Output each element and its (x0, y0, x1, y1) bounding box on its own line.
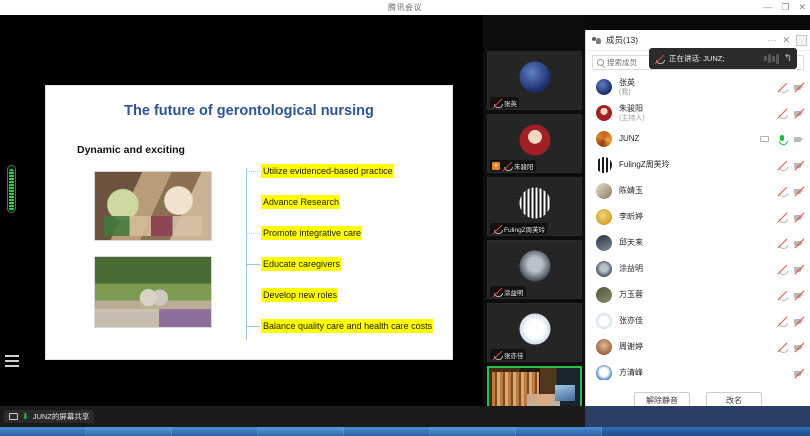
video-tile-label: 涂益明 (490, 286, 526, 297)
participant-name: 方清峰 (619, 368, 643, 378)
avatar (596, 339, 612, 355)
screen-share-status[interactable]: ⬇ JUNZ的屏幕共享 (4, 410, 94, 423)
video-tile[interactable]: ★ 朱骏阳 (487, 114, 582, 173)
mic-muted-icon (492, 349, 502, 360)
taskbar-item[interactable] (86, 427, 172, 436)
avatar (596, 157, 612, 173)
mic-muted-icon[interactable] (777, 108, 787, 119)
os-taskbar[interactable] (0, 427, 810, 436)
panel-title: 成员(13) (606, 34, 638, 46)
participant-name: FulingZ周芙玲 (619, 160, 670, 170)
taskbar-item[interactable] (516, 427, 602, 436)
panel-bottom-strip (585, 406, 810, 427)
avatar (519, 251, 550, 282)
taskbar-item[interactable] (258, 427, 344, 436)
taskbar-spacer (602, 427, 810, 436)
list-item: Advance Research (246, 195, 446, 226)
avatar (519, 314, 550, 345)
list-item[interactable]: 李昕婷 (586, 204, 810, 230)
list-item[interactable]: JUNZ (586, 126, 810, 152)
list-icon[interactable] (5, 355, 19, 367)
video-tile[interactable]: 张英 (487, 51, 582, 110)
video-tile[interactable]: FulingZ周芙玲 (487, 177, 582, 236)
participant-name: 李昕婷 (619, 212, 643, 222)
list-item: Develop new roles (246, 288, 446, 319)
screen-share-icon (760, 134, 770, 145)
list-item[interactable]: 陈婧玉 (586, 178, 810, 204)
participants-panel: 成员(13) ··· ✕ 正在讲话: JUNZ; ↰ (585, 30, 810, 421)
participant-name: 万玉蓉 (619, 290, 643, 300)
mic-on-icon[interactable] (777, 134, 787, 145)
participant-status-icons (777, 204, 804, 230)
mic-muted-icon[interactable] (777, 290, 787, 301)
slide-subtitle: Dynamic and exciting (77, 144, 185, 156)
speaking-text: 正在讲话: JUNZ; (669, 53, 759, 64)
list-item[interactable]: FulingZ周芙玲 (586, 152, 810, 178)
mic-muted-icon[interactable] (777, 264, 787, 275)
camera-off-icon[interactable] (794, 82, 804, 93)
list-item[interactable]: 方清峰 (586, 360, 810, 380)
mic-muted-icon (492, 223, 502, 234)
camera-off-icon[interactable] (794, 264, 804, 275)
maximize-icon[interactable]: ❐ (781, 3, 789, 12)
participant-status-icons (777, 308, 804, 334)
camera-icon[interactable] (794, 134, 804, 145)
mic-muted-icon[interactable] (777, 212, 787, 223)
slide-bullets: Utilize evidenced-based practice Advance… (246, 164, 446, 350)
participant-name: 涂益明 (619, 264, 643, 274)
close-icon[interactable]: ✕ (798, 3, 806, 12)
taskbar-item[interactable] (172, 427, 258, 436)
avatar (519, 62, 550, 93)
list-item[interactable]: 涂益明 (586, 256, 810, 282)
video-tile-label: FulingZ周芙玲 (490, 223, 547, 234)
participant-role: (我) (619, 88, 635, 97)
video-tile[interactable]: 涂益明 (487, 240, 582, 299)
participant-name: 陈婧玉 (619, 186, 643, 196)
mic-muted-icon[interactable] (777, 316, 787, 327)
participant-name: 朱骏阳 (619, 104, 645, 114)
participant-status-icons (777, 74, 804, 100)
camera-off-icon[interactable] (794, 160, 804, 171)
presentation-slide: The future of gerontological nursing Dyn… (45, 85, 453, 360)
list-item: Educate caregivers (246, 257, 446, 288)
list-item: Utilize evidenced-based practice (246, 164, 446, 195)
participant-status-icons (777, 334, 804, 360)
camera-off-icon[interactable] (794, 368, 804, 379)
host-badge-icon: ★ (492, 162, 500, 170)
meeting-body: The future of gerontological nursing Dyn… (0, 15, 810, 406)
video-tile-label: 张亦佳 (490, 349, 526, 360)
participant-status-icons (794, 360, 804, 380)
mic-muted-icon[interactable] (777, 160, 787, 171)
avatar (596, 209, 612, 225)
participant-status-icons (777, 230, 804, 256)
minimize-icon[interactable]: — (763, 3, 772, 12)
slide-photo-nurse-patient (94, 171, 212, 241)
list-item[interactable]: 邱天来 (586, 230, 810, 256)
participant-name: 张亦佳 (619, 316, 643, 326)
taskbar-item[interactable] (0, 427, 86, 436)
more-options-icon[interactable]: ··· (767, 36, 776, 45)
avatar (596, 79, 612, 95)
participant-name: 张英 (619, 78, 635, 88)
panel-close-icon[interactable]: ✕ (782, 36, 790, 45)
avatar (596, 105, 612, 121)
video-filmstrip[interactable]: 张英 ★ 朱骏阳 FulingZ周芙玲 (483, 15, 585, 406)
list-item[interactable]: 朱骏阳 (主持人) (586, 100, 810, 126)
avatar (596, 235, 612, 251)
people-icon (592, 36, 602, 45)
avatar (596, 131, 612, 147)
mic-muted-icon (502, 160, 512, 171)
participant-name: 周谢婷 (619, 342, 643, 352)
participant-status-icons (777, 152, 804, 178)
popout-panel-button[interactable] (796, 35, 807, 46)
list-item: Promote integrative care (246, 226, 446, 257)
download-arrow-icon: ⬇ (22, 413, 29, 421)
shared-screen-stage: The future of gerontological nursing Dyn… (25, 15, 483, 406)
meeting-window: 腾讯会议 — ❐ ✕ The future of gerontological … (0, 0, 810, 436)
video-tile-label: ★ 朱骏阳 (490, 160, 536, 171)
audio-wave-icon (764, 54, 779, 64)
speaking-indicator: 正在讲话: JUNZ; ↰ (649, 48, 797, 69)
list-item: Balance quality care and health care cos… (246, 319, 446, 350)
title-bar: 腾讯会议 — ❐ ✕ (0, 0, 810, 15)
list-item[interactable]: 万玉蓉 (586, 282, 810, 308)
camera-off-icon[interactable] (794, 212, 804, 223)
camera-off-icon[interactable] (794, 186, 804, 197)
participant-name: JUNZ (619, 134, 639, 144)
camera-off-icon[interactable] (794, 108, 804, 119)
window-controls: — ❐ ✕ (763, 0, 806, 15)
list-item[interactable]: 张亦佳 (586, 308, 810, 334)
mic-muted-icon (654, 53, 664, 64)
back-arrow-icon[interactable]: ↰ (784, 53, 792, 64)
video-tile[interactable]: 张亦佳 (487, 303, 582, 362)
camera-off-icon[interactable] (794, 238, 804, 249)
mic-level-indicator (7, 165, 16, 213)
avatar (519, 125, 550, 156)
avatar (596, 313, 612, 329)
participant-status-icons (777, 282, 804, 308)
mic-muted-icon (492, 286, 502, 297)
search-icon (597, 59, 604, 66)
mic-muted-icon[interactable] (777, 238, 787, 249)
mic-muted-icon[interactable] (777, 342, 787, 353)
avatar (596, 287, 612, 303)
participant-role: (主持人) (619, 114, 645, 123)
video-tile-label: 张英 (490, 97, 519, 108)
participant-status-icons (777, 256, 804, 282)
camera-off-icon[interactable] (794, 316, 804, 327)
participant-list[interactable]: 张英 (我) 朱骏阳 (主持人) (586, 74, 810, 380)
participant-status-icons (777, 178, 804, 204)
avatar (596, 183, 612, 199)
taskbar-item[interactable] (344, 427, 430, 436)
slide-title: The future of gerontological nursing (46, 103, 452, 119)
share-status-text: JUNZ的屏幕共享 (33, 411, 90, 422)
list-item[interactable]: 周谢婷 (586, 334, 810, 360)
list-item[interactable]: 张英 (我) (586, 74, 810, 100)
camera-off-icon[interactable] (794, 342, 804, 353)
taskbar-item[interactable] (430, 427, 516, 436)
camera-off-icon[interactable] (794, 290, 804, 301)
left-rail (0, 15, 25, 406)
avatar (596, 261, 612, 277)
participant-status-icons (777, 100, 804, 126)
slide-photo-garden-walk (94, 256, 212, 328)
participant-name: 邱天来 (619, 238, 643, 248)
mic-muted-icon (492, 97, 502, 108)
mic-muted-icon[interactable] (777, 186, 787, 197)
participant-status-icons (760, 126, 804, 152)
avatar (519, 188, 550, 219)
mic-muted-icon[interactable] (777, 82, 787, 93)
window-title: 腾讯会议 (0, 2, 810, 13)
avatar (596, 365, 612, 380)
monitor-icon (9, 413, 18, 420)
